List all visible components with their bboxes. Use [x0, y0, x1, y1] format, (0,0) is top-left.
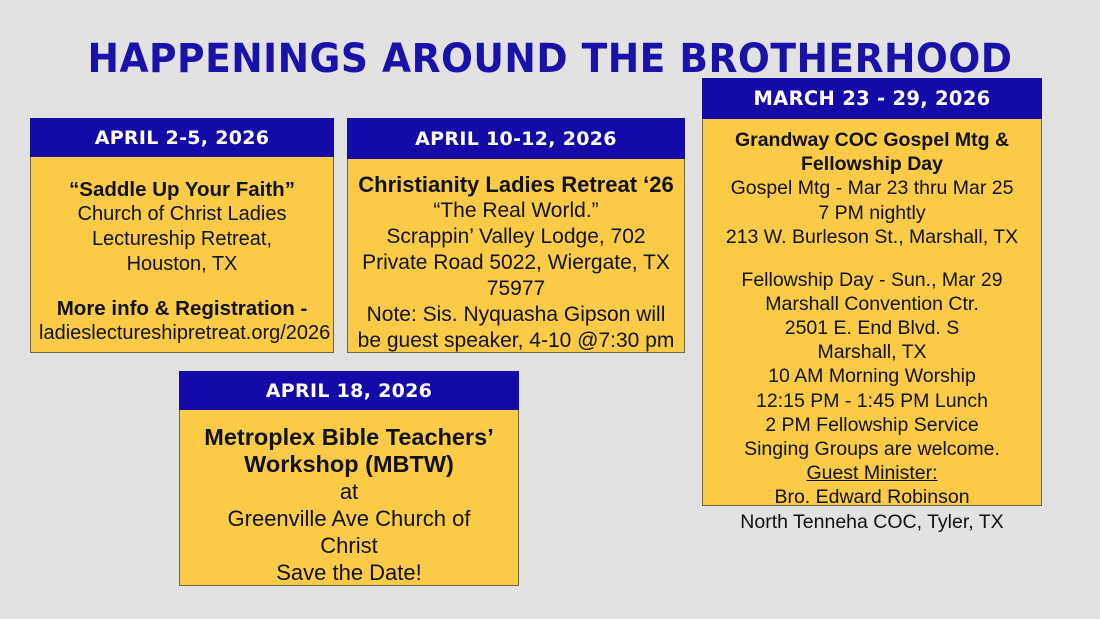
event-card-line: Save the Date!: [188, 559, 510, 586]
event-card-line: 213 W. Burleson St., Marshall, TX: [709, 225, 1035, 249]
event-card-line: Singing Groups are welcome.: [709, 437, 1035, 461]
event-card-line: North Tenneha COC, Tyler, TX: [709, 510, 1035, 534]
event-card-line: Church of Christ Ladies: [39, 202, 325, 227]
event-card-line: be guest speaker, 4-10 @7:30 pm: [353, 328, 679, 354]
event-card-line: Scrappin’ Valley Lodge, 702: [353, 224, 679, 250]
event-card-line: Workshop (MBTW): [188, 451, 510, 478]
event-card-line: Marshall, TX: [709, 340, 1035, 364]
event-card-line: More info & Registration -: [39, 296, 325, 321]
event-card-line: Gospel Mtg - Mar 23 thru Mar 25: [709, 176, 1035, 200]
event-card-lectureship[interactable]: APRIL 2-5, 2026 “Saddle Up Your Faith”Ch…: [30, 119, 334, 353]
event-card-line: Fellowship Day: [709, 152, 1035, 176]
event-card-line: Christianity Ladies Retreat ‘26: [353, 172, 679, 198]
event-card-ladies-retreat[interactable]: APRIL 10-12, 2026 Christianity Ladies Re…: [347, 119, 685, 353]
event-card-line: at: [188, 478, 510, 505]
event-card-line: Metroplex Bible Teachers’: [188, 424, 510, 451]
event-card-line: Private Road 5022, Wiergate, TX: [353, 250, 679, 276]
event-card-line: Houston, TX: [39, 252, 325, 277]
event-card-line: Christ: [188, 532, 510, 559]
event-card-date-header: MARCH 23 - 29, 2026: [702, 78, 1042, 119]
event-card-line: Guest Minister:: [709, 461, 1035, 485]
event-card-line: Greenville Ave Church of: [188, 505, 510, 532]
event-card-line: Note: Sis. Nyquasha Gipson will: [353, 302, 679, 328]
event-card-line: 7 PM nightly: [709, 201, 1035, 225]
event-card-line: Grandway COC Gospel Mtg &: [709, 128, 1035, 152]
event-card-body: Christianity Ladies Retreat ‘26“The Real…: [348, 159, 684, 354]
event-card-grandway[interactable]: MARCH 23 - 29, 2026 Grandway COC Gospel …: [702, 79, 1042, 506]
event-card-line: ladieslectureshipretreat.org/2026: [39, 321, 325, 346]
event-card-line: “Saddle Up Your Faith”: [39, 177, 325, 202]
page-title: HAPPENINGS AROUND THE BROTHERHOOD: [33, 36, 1067, 82]
event-card-date-header: APRIL 2-5, 2026: [30, 118, 334, 157]
event-card-line: 75977: [353, 276, 679, 302]
event-card-mbtw[interactable]: APRIL 18, 2026 Metroplex Bible Teachers’…: [179, 372, 519, 586]
event-card-body: “Saddle Up Your Faith”Church of Christ L…: [31, 157, 333, 346]
slide-canvas: HAPPENINGS AROUND THE BROTHERHOOD APRIL …: [0, 0, 1100, 619]
event-card-body: Metroplex Bible Teachers’Workshop (MBTW)…: [180, 410, 518, 586]
event-card-line: 10 AM Morning Worship: [709, 364, 1035, 388]
event-card-line: Marshall Convention Ctr.: [709, 292, 1035, 316]
event-card-line: “The Real World.”: [353, 198, 679, 224]
text-spacer: [709, 249, 1035, 268]
text-spacer: [39, 277, 325, 296]
event-card-line: Bro. Edward Robinson: [709, 485, 1035, 509]
event-card-body: Grandway COC Gospel Mtg &Fellowship DayG…: [703, 119, 1041, 534]
event-card-line: Fellowship Day - Sun., Mar 29: [709, 268, 1035, 292]
event-card-line: 12:15 PM - 1:45 PM Lunch: [709, 389, 1035, 413]
event-card-date-header: APRIL 18, 2026: [179, 371, 519, 410]
event-card-date-header: APRIL 10-12, 2026: [347, 118, 685, 159]
event-card-line: 2 PM Fellowship Service: [709, 413, 1035, 437]
event-card-line: Lectureship Retreat,: [39, 227, 325, 252]
event-card-line: 2501 E. End Blvd. S: [709, 316, 1035, 340]
